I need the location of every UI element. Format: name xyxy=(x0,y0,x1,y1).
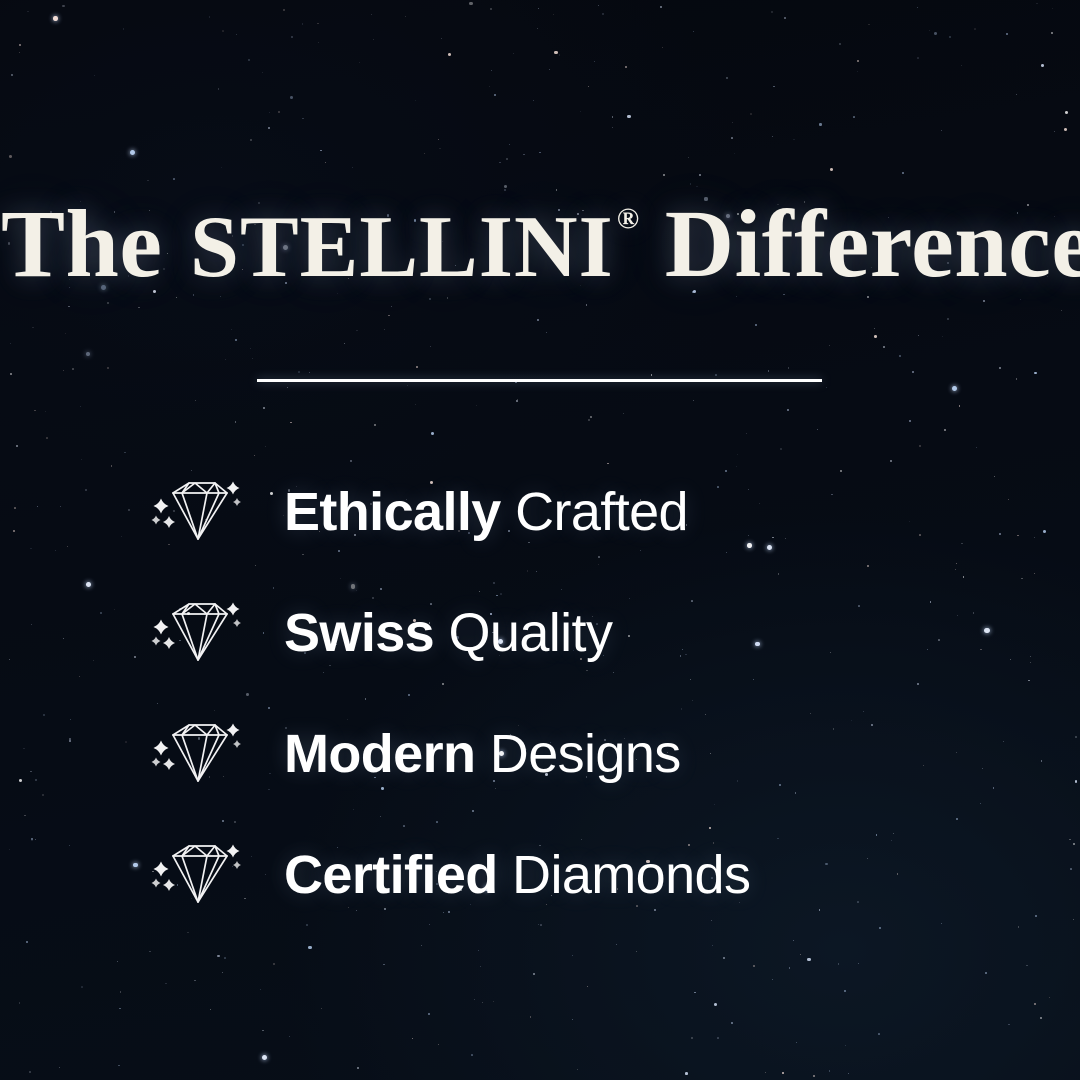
feature-light: Crafted xyxy=(515,482,688,542)
title-text: The STELLINI® Difference xyxy=(0,196,1080,292)
feature-label: Certified Diamonds xyxy=(284,847,750,904)
diamond-icon xyxy=(148,838,242,914)
feature-strong: Swiss xyxy=(284,603,434,663)
feature-light: Quality xyxy=(449,603,613,663)
list-item: Swiss Quality xyxy=(148,573,948,694)
feature-strong: Modern xyxy=(284,724,475,784)
list-item: Certified Diamonds xyxy=(148,815,948,936)
list-item: Ethically Crafted xyxy=(148,452,948,573)
promo-graphic: The STELLINI® Difference Ethically Craft… xyxy=(0,0,1080,1080)
divider-rule xyxy=(257,379,822,382)
feature-label: Modern Designs xyxy=(284,726,681,783)
registered-trademark-icon: ® xyxy=(617,202,639,235)
feature-light: Diamonds xyxy=(512,845,750,905)
feature-strong: Certified xyxy=(284,845,498,905)
list-item: Modern Designs xyxy=(148,694,948,815)
title-prefix: The xyxy=(0,190,164,297)
feature-label: Swiss Quality xyxy=(284,605,612,662)
feature-strong: Ethically xyxy=(284,482,501,542)
diamond-icon xyxy=(148,717,242,793)
diamond-icon xyxy=(148,596,242,672)
feature-light: Designs xyxy=(490,724,681,784)
diamond-icon xyxy=(148,475,242,551)
feature-list: Ethically Crafted Swiss Quality xyxy=(148,452,948,936)
page-title: The STELLINI® Difference xyxy=(0,196,1080,292)
feature-label: Ethically Crafted xyxy=(284,484,688,541)
title-suffix: Difference xyxy=(664,190,1080,297)
brand-name: STELLINI xyxy=(188,199,616,296)
